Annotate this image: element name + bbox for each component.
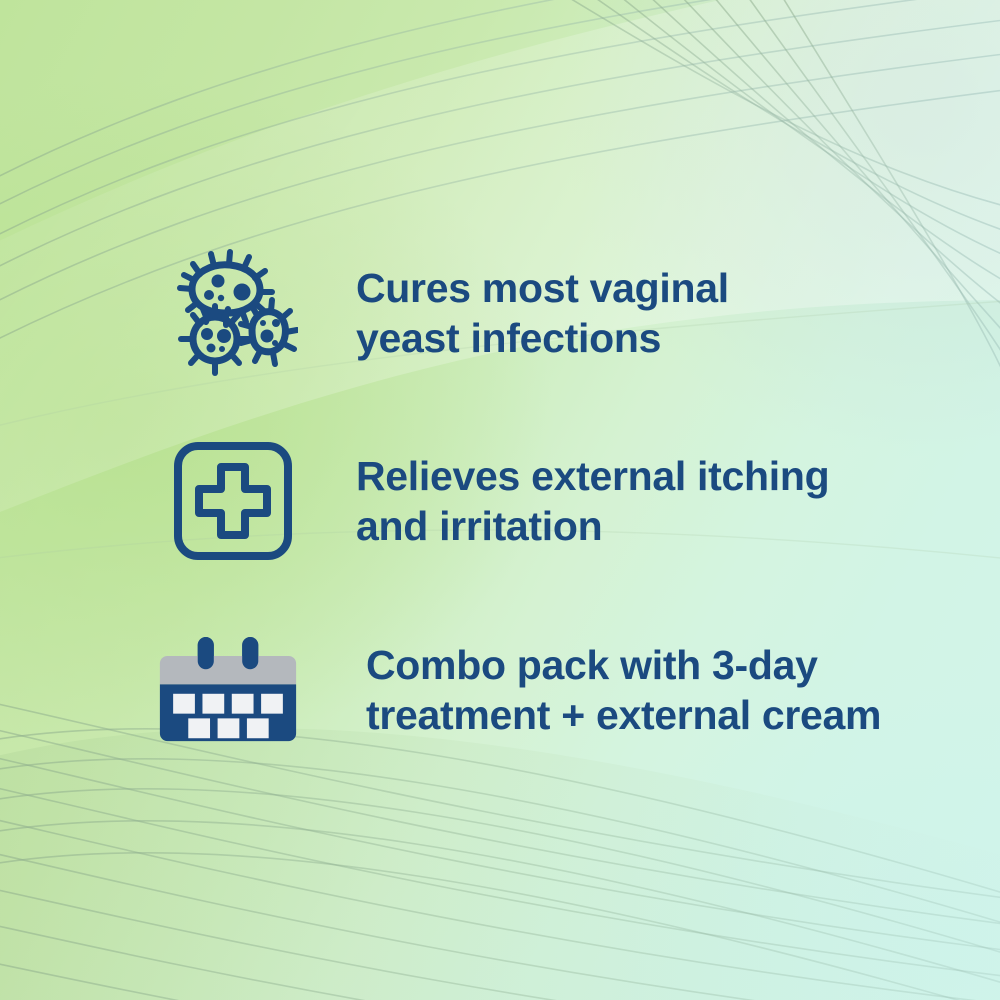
germs-bacteria-icon [168,248,298,378]
feature-list: Cures most vaginal yeast infections Reli… [0,0,1000,1000]
feature-label-relieves-itching: Relieves external itching and irritation [356,451,829,551]
feature-label-cures-yeast-infections: Cures most vaginal yeast infections [356,263,729,363]
feature-label-combo-pack: Combo pack with 3-day treatment + extern… [366,640,881,740]
product-benefits-poster: Cures most vaginal yeast infections Reli… [0,0,1000,1000]
feature-item-cures-yeast-infections: Cures most vaginal yeast infections [168,248,729,378]
feature-item-relieves-itching: Relieves external itching and irritation [168,440,829,562]
medical-cross-square-icon [168,440,298,562]
feature-item-combo-pack: Combo pack with 3-day treatment + extern… [158,630,881,750]
calendar-icon [158,630,298,750]
